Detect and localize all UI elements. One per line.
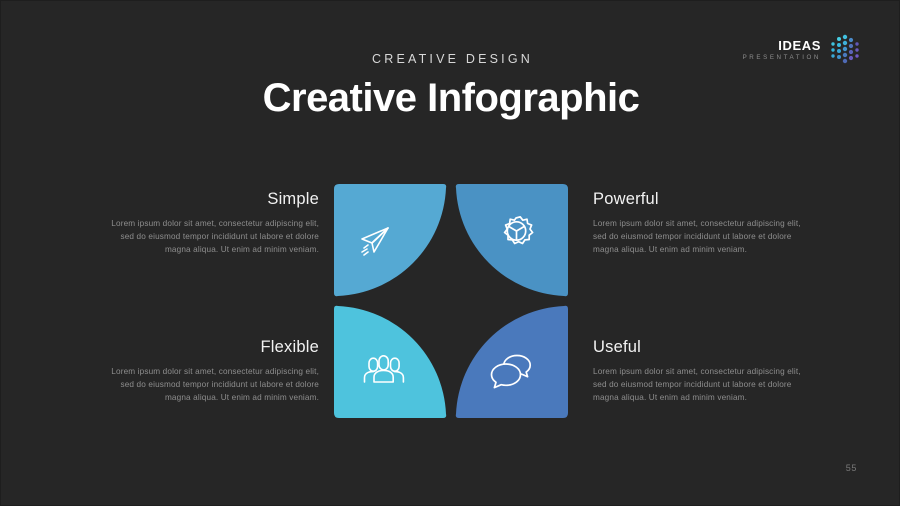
segment-text-powerful: Powerful Lorem ipsum dolor sit amet, con… [593,191,815,256]
segment-heading-useful: Useful [593,339,815,356]
page-number: 55 [846,463,857,473]
infographic-diagram [331,181,571,421]
brand-logo-text: IDEAS PRESENTATION [743,39,821,61]
slide-title: Creative Infographic [1,78,900,118]
segment-flexible[interactable] [334,306,446,418]
segment-text-useful: Useful Lorem ipsum dolor sit amet, conse… [593,339,815,404]
brand-logo-tagline: PRESENTATION [743,55,821,61]
segment-text-flexible: Flexible Lorem ipsum dolor sit amet, con… [97,339,319,404]
segment-heading-simple: Simple [97,191,319,208]
segment-powerful[interactable] [456,184,568,296]
hexagon-dots-icon [829,33,863,67]
segment-body-powerful: Lorem ipsum dolor sit amet, consectetur … [593,217,815,257]
brand-logo: IDEAS PRESENTATION [743,33,863,67]
segment-text-simple: Simple Lorem ipsum dolor sit amet, conse… [97,191,319,256]
segment-body-simple: Lorem ipsum dolor sit amet, consectetur … [97,217,319,257]
brand-logo-name: IDEAS [743,39,821,52]
segment-heading-powerful: Powerful [593,191,815,208]
slide: CREATIVE DESIGN Creative Infographic IDE… [0,0,900,506]
segment-heading-flexible: Flexible [97,339,319,356]
segment-useful[interactable] [456,306,568,418]
segment-body-flexible: Lorem ipsum dolor sit amet, consectetur … [97,365,319,405]
segment-simple[interactable] [334,184,451,301]
segment-body-useful: Lorem ipsum dolor sit amet, consectetur … [593,365,815,405]
